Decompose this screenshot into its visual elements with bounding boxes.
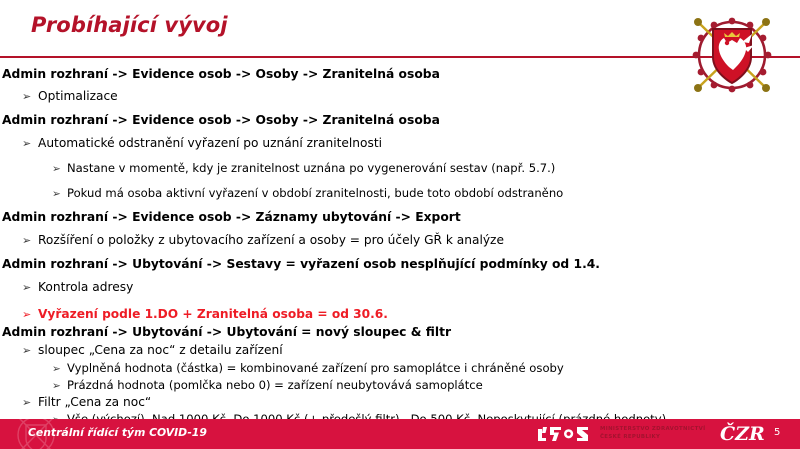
bullet-marker: ➢: [22, 308, 38, 321]
bullet-item: ➢Filtr „Cena za noc“: [22, 395, 151, 409]
bullet-marker: ➢: [22, 90, 38, 103]
sub-bullet-label: Prázdná hodnota (pomlčka nebo 0) = zaříz…: [67, 378, 483, 392]
slide: Probíhající vývoj: [0, 0, 800, 449]
ministry-name-line1: MINISTERSTVO ZDRAVOTNICTVÍ: [600, 425, 705, 433]
bullet-marker: ➢: [52, 363, 67, 375]
brand-logo: ČZR: [720, 423, 765, 445]
sub-bullet-label: Vyplněná hodnota (částka) = kombinované …: [67, 361, 564, 375]
sub-bullet-label: Pokud má osoba aktivní vyřazení v období…: [67, 186, 563, 200]
sub-bullet-item: ➢Vyplněná hodnota (částka) = kombinované…: [52, 361, 564, 375]
content-heading: Admin rozhraní -> Evidence osob -> Zázna…: [2, 210, 461, 224]
bullet-marker: ➢: [22, 281, 38, 294]
bullet-item: ➢Automatické odstranění vyřazení po uzná…: [22, 136, 382, 150]
bullet-marker: ➢: [52, 188, 67, 200]
ministry-name-line2: ČESKÉ REPUBLIKY: [600, 433, 705, 441]
bullet-item: ➢Rozšíření o položky z ubytovacího zaříz…: [22, 233, 504, 247]
bullet-item: ➢sloupec „Cena za noc“ z detailu zařízen…: [22, 343, 283, 357]
bullet-label: Filtr „Cena za noc“: [38, 395, 151, 409]
content-heading: Admin rozhraní -> Ubytování -> Ubytování…: [2, 325, 451, 339]
content-body: Admin rozhraní -> Evidence osob -> Osoby…: [0, 62, 800, 414]
bullet-marker: ➢: [22, 234, 38, 247]
footer-title: Centrální řídící tým COVID-19: [28, 426, 207, 439]
bullet-marker: ➢: [22, 396, 38, 409]
bullet-marker: ➢: [22, 137, 38, 150]
sub-bullet-item: ➢Pokud má osoba aktivní vyřazení v obdob…: [52, 186, 563, 200]
bullet-label: sloupec „Cena za noc“ z detailu zařízení: [38, 343, 283, 357]
bullet-label: Automatické odstranění vyřazení po uznán…: [38, 136, 382, 150]
sub-bullet-label: Nastane v momentě, kdy je zranitelnost u…: [67, 161, 555, 175]
sub-bullet-item: ➢Nastane v momentě, kdy je zranitelnost …: [52, 161, 555, 175]
bullet-marker: ➢: [52, 380, 67, 392]
bullet-item: ➢Optimalizace: [22, 89, 118, 103]
page-number: 5: [774, 427, 780, 438]
page-title: Probíhající vývoj: [31, 13, 228, 37]
footer-bar: Centrální řídící tým COVID-19 MINISTERST…: [0, 419, 800, 449]
bullet-label: Kontrola adresy: [38, 280, 133, 294]
bullet-marker: ➢: [52, 163, 67, 175]
bullet-item-highlighted: ➢Vyřazení podle 1.DO + Zranitelná osoba …: [22, 307, 388, 321]
ministry-name: MINISTERSTVO ZDRAVOTNICTVÍ ČESKÉ REPUBLI…: [600, 425, 705, 442]
bullet-label-highlighted: Vyřazení podle 1.DO + Zranitelná osoba =…: [38, 307, 388, 321]
sub-bullet-item: ➢Prázdná hodnota (pomlčka nebo 0) = zaří…: [52, 378, 483, 392]
bullet-label: Optimalizace: [38, 89, 118, 103]
content-heading: Admin rozhraní -> Evidence osob -> Osoby…: [2, 67, 440, 81]
bullet-item: ➢Kontrola adresy: [22, 280, 133, 294]
content-heading: Admin rozhraní -> Evidence osob -> Osoby…: [2, 113, 440, 127]
bullet-marker: ➢: [22, 344, 38, 357]
content-heading: Admin rozhraní -> Ubytování -> Sestavy =…: [2, 257, 600, 271]
ministry-of-health-mark-icon: [537, 425, 593, 443]
bullet-label: Rozšíření o položky z ubytovacího zaříze…: [38, 233, 504, 247]
